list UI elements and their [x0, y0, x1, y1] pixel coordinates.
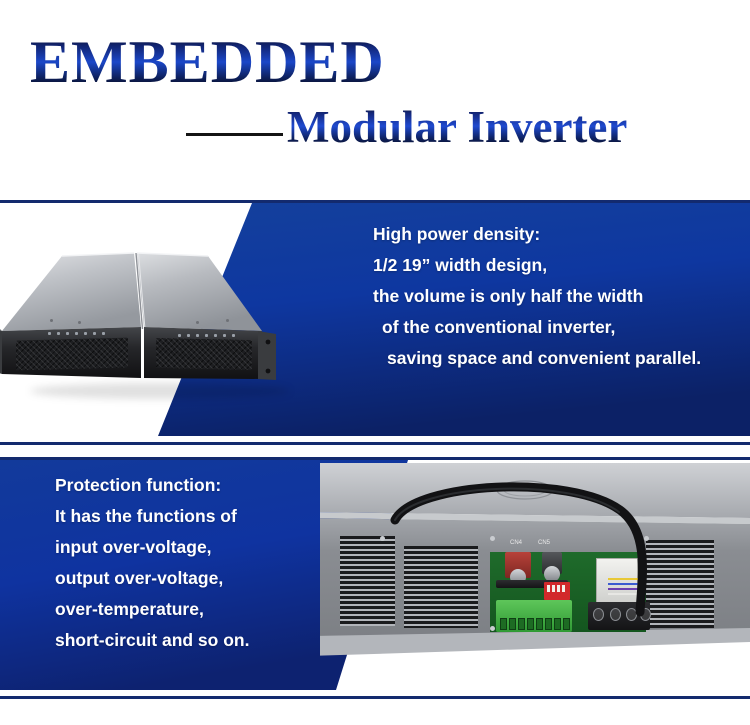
ac-terminal-screw-4: [640, 608, 651, 621]
copy-line: saving space and convenient parallel.: [373, 343, 701, 374]
chassis-screw-2: [490, 536, 495, 541]
title-rule-divider: [186, 133, 283, 136]
wire-purple: [608, 588, 638, 590]
copy-line: short-circuit and so on.: [55, 625, 249, 656]
feature-panel-protection: CN4 CN5: [0, 457, 750, 699]
page-title: EMBEDDED: [30, 32, 385, 92]
product-photo-rack-modules: [0, 203, 330, 436]
connector-label-cn4: CN4: [510, 540, 522, 546]
copy-line: It has the functions of: [55, 501, 249, 532]
deck-screw-3: [196, 321, 199, 324]
product-feature-banner: EMBEDDED Modular Inverter: [0, 0, 750, 725]
wire-yellow: [608, 578, 638, 580]
green-terminal-block: [496, 600, 572, 632]
deck-screw-4: [226, 319, 229, 322]
feature-panel-power-density: High power density: 1/2 19” width design…: [0, 200, 750, 445]
product-photo-rear-panel: CN4 CN5: [320, 460, 750, 693]
status-led-row-right: [178, 334, 238, 337]
connector-label-cn5: CN5: [538, 540, 550, 546]
page-subtitle: Modular Inverter: [287, 104, 627, 150]
copy-line: 1/2 19” width design,: [373, 250, 701, 281]
front-mesh-left: [16, 338, 128, 371]
wire-white: [608, 593, 638, 595]
copy-line: High power density:: [373, 219, 701, 250]
ac-terminal-screw-3: [626, 608, 637, 621]
ac-terminal-screw-2: [610, 608, 621, 621]
copy-line: over-temperature,: [55, 594, 249, 625]
vent-grille-right: [646, 540, 714, 628]
copy-line: the volume is only half the width: [373, 281, 701, 312]
deck-screw-2: [78, 321, 81, 324]
chassis-screw-3: [490, 626, 495, 631]
panel-bottom-copy: Protection function: It has the function…: [55, 470, 249, 656]
front-mesh-right: [156, 338, 252, 370]
copy-line: of the conventional inverter,: [373, 312, 701, 343]
copy-line: output over-voltage,: [55, 563, 249, 594]
vent-grille-center-left: [404, 546, 478, 628]
banner-header: EMBEDDED Modular Inverter: [0, 0, 750, 190]
chassis-screw-1: [380, 536, 385, 541]
status-led-row-left: [48, 332, 108, 335]
copy-line: input over-voltage,: [55, 532, 249, 563]
vent-grille-left: [340, 536, 395, 626]
ac-terminal-screw-1: [593, 608, 604, 621]
wire-blue: [608, 583, 638, 585]
panel-top-copy: High power density: 1/2 19” width design…: [373, 219, 701, 374]
deck-screw-1: [50, 319, 53, 322]
dip-switch[interactable]: [544, 582, 570, 600]
copy-line: Protection function:: [55, 470, 249, 501]
chassis-screw-4: [644, 536, 649, 541]
wire-harness-connector: [596, 558, 638, 604]
